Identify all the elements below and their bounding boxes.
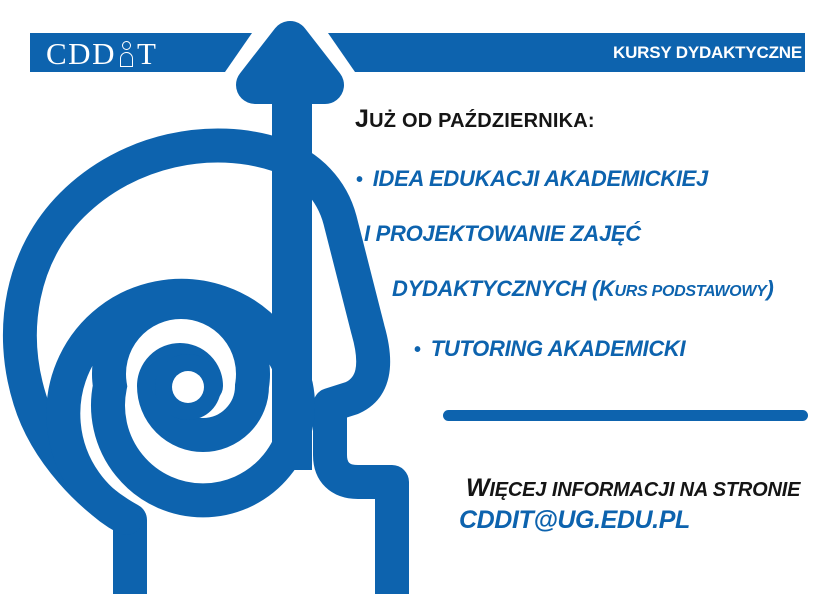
page-heading: JUŻ OD PAŹDZIERNIKA: bbox=[355, 105, 595, 134]
course-paren-close: ) bbox=[767, 276, 774, 301]
head-profile-icon bbox=[20, 145, 392, 594]
bullet-marker-1: • bbox=[356, 169, 363, 191]
course-text-2: I PROJEKTOWANIE ZAJĘĆ bbox=[364, 221, 641, 246]
course-item-2: •TUTORING AKADEMICKI bbox=[414, 336, 685, 362]
brand-logo[interactable]: CDD T bbox=[46, 33, 246, 73]
heading-tail: OD PAŹDZIERNIKA: bbox=[402, 110, 595, 132]
horizontal-divider bbox=[443, 410, 808, 421]
spiral-core-ring bbox=[155, 354, 221, 420]
footer-info-tail: INFORMACJI NA STRONIE bbox=[552, 479, 800, 501]
footer-lead-cap: W bbox=[466, 474, 489, 502]
course-text-4: TUTORING AKADEMICKI bbox=[431, 336, 686, 361]
course-item-1: •IDEA EDUKACJI AKADEMICKIEJ bbox=[356, 166, 708, 192]
person-icon-body bbox=[120, 52, 133, 67]
category-label: KURSY DYDAKTYCZNE bbox=[613, 33, 802, 73]
logo-text-t: T bbox=[137, 38, 157, 69]
spiral-icon bbox=[63, 296, 298, 518]
spiral-core-hole bbox=[172, 371, 204, 403]
bullet-marker-2: • bbox=[414, 339, 421, 361]
arrow-shaft bbox=[272, 60, 312, 420]
person-icon bbox=[118, 38, 135, 68]
poster-canvas: CDD T KURSY DYDAKTYCZNE JUŻ OD PAŹDZIERN… bbox=[0, 0, 835, 594]
footer-lead-rest: IĘCEJ bbox=[489, 479, 546, 501]
contact-email[interactable]: CDDIT@UG.EDU.PL bbox=[459, 506, 690, 535]
course-text-1: IDEA EDUKACJI AKADEMICKIEJ bbox=[373, 166, 708, 191]
course-paren-cap: K bbox=[599, 276, 615, 301]
course-text-3: DYDAKTYCZNYCH ( bbox=[392, 276, 599, 301]
arrow-shaft-lower bbox=[272, 300, 312, 470]
heading-lead-rest: UŻ bbox=[369, 110, 396, 132]
footer-info-text: WIĘCEJ INFORMACJI NA STRONIE bbox=[466, 474, 800, 503]
course-item-1-cont2: DYDAKTYCZNYCH (KURS PODSTAWOWY) bbox=[392, 276, 774, 302]
course-item-1-cont: I PROJEKTOWANIE ZAJĘĆ bbox=[364, 221, 641, 247]
course-paren-small: URS PODSTAWOWY bbox=[615, 283, 767, 300]
heading-lead-cap: J bbox=[355, 105, 369, 133]
upward-arrow-icon bbox=[255, 40, 325, 85]
person-icon-head bbox=[122, 41, 131, 50]
logo-text-cdd: CDD bbox=[46, 38, 116, 69]
